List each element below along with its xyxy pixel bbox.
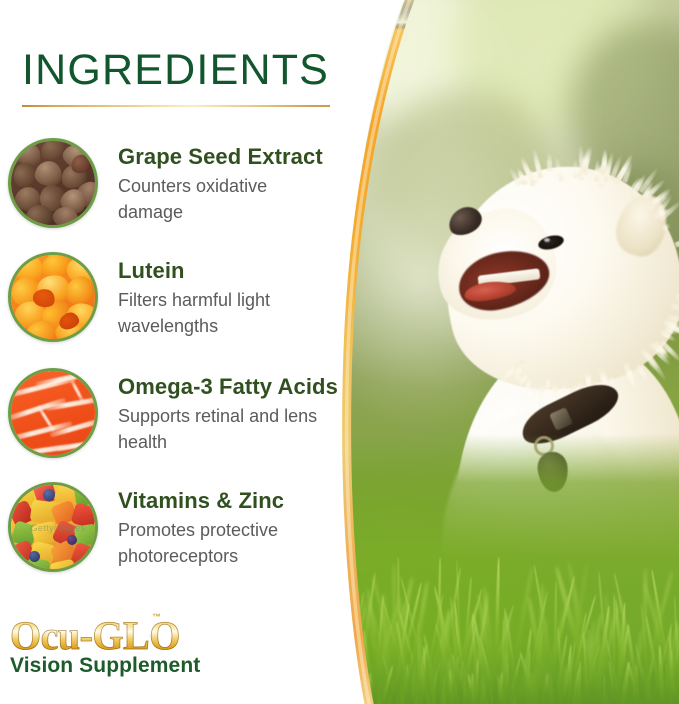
- fruit-salad-icon: Gettyimages: [8, 482, 98, 572]
- ingredient-name: Lutein: [118, 258, 185, 284]
- grass-field: [330, 434, 679, 704]
- fur-spike: [674, 234, 679, 247]
- trademark-symbol: ™: [152, 612, 161, 622]
- marigold-petals-icon: [8, 252, 98, 342]
- ingredients-panel: INGREDIENTS: [0, 0, 340, 704]
- ingredients-infographic: INGREDIENTS: [0, 0, 679, 704]
- fur-spike: [635, 364, 650, 383]
- brand-logo: Ocu-GLO Vision Supplement: [10, 612, 240, 692]
- dog-photo: [330, 0, 679, 704]
- fur-spike: [553, 155, 564, 182]
- grape-seeds-icon: [8, 138, 98, 228]
- fur-spike: [661, 222, 672, 231]
- ingredient-name: Omega-3 Fatty Acids: [118, 374, 338, 400]
- ingredient-description: Counters oxidative damage: [118, 174, 333, 225]
- dog-eye-highlight: [544, 238, 550, 242]
- page-title: INGREDIENTS: [22, 46, 329, 95]
- image-watermark: Gettyimages: [15, 523, 98, 533]
- grass-light-haze: [330, 554, 679, 704]
- ingredient-name: Grape Seed Extract: [118, 144, 323, 170]
- ingredient-description: Filters harmful light wavelengths: [118, 288, 333, 339]
- title-divider: [22, 105, 330, 107]
- ingredient-description: Supports retinal and lens health: [118, 404, 333, 455]
- salmon-fillet-icon: [8, 368, 98, 458]
- brand-tagline: Vision Supplement: [10, 654, 200, 678]
- ingredient-name: Vitamins & Zinc: [118, 488, 284, 514]
- ingredient-description: Promotes protective photoreceptors: [118, 518, 333, 569]
